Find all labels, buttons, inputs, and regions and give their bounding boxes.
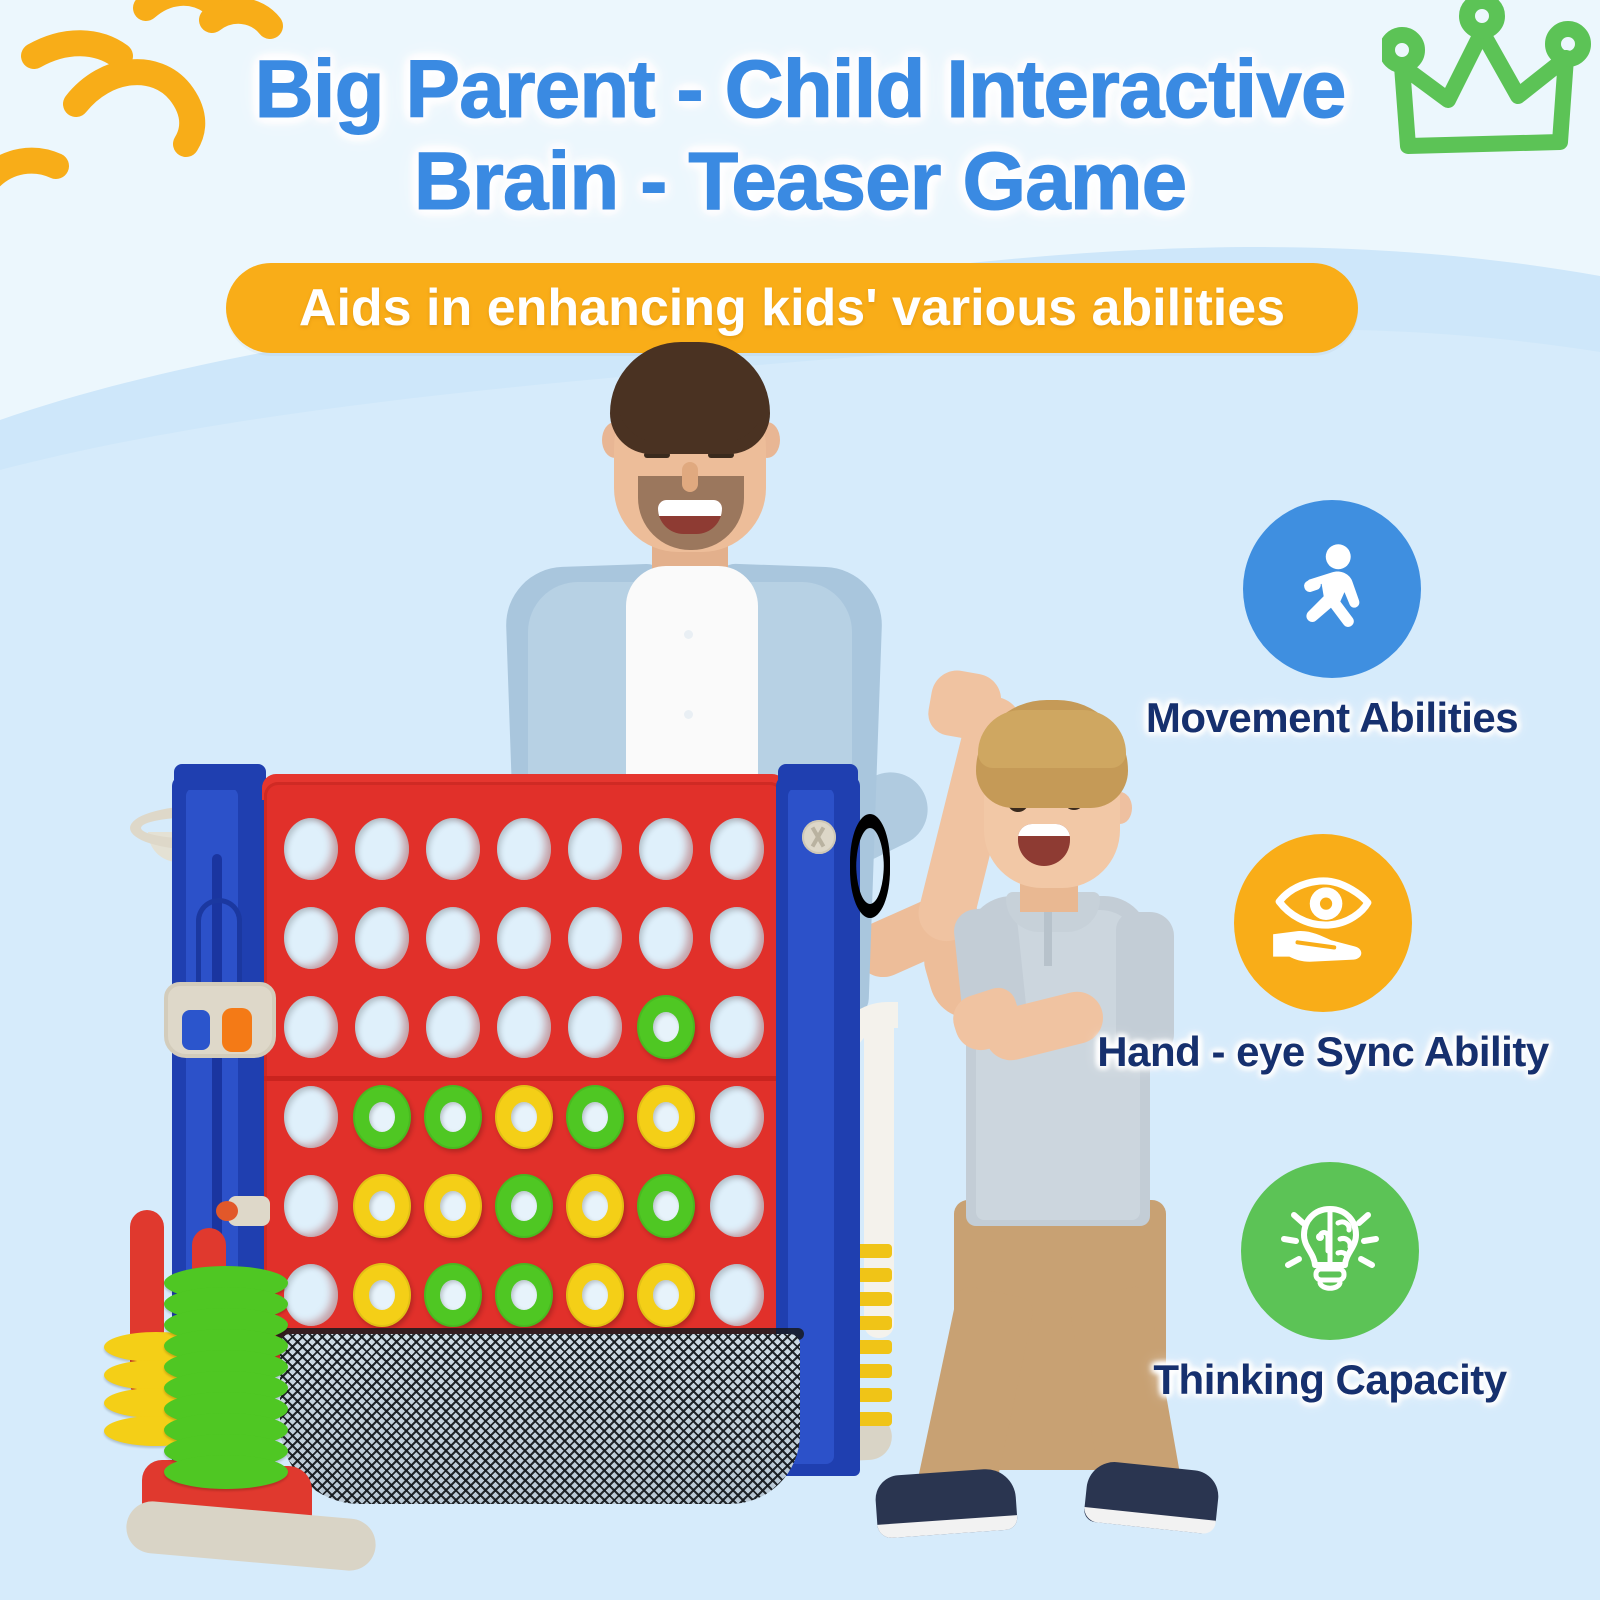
benefits-list: Movement Abilities Hand - eye Sync Abili… bbox=[1092, 500, 1562, 1496]
empty-hole bbox=[710, 996, 764, 1058]
man-nose bbox=[682, 462, 698, 492]
grid-cell bbox=[278, 1074, 345, 1159]
grid-cell bbox=[278, 895, 345, 980]
screw-cap-icon bbox=[802, 820, 836, 854]
empty-hole bbox=[568, 907, 622, 969]
man-shirt-button bbox=[684, 710, 693, 719]
ring-toss-station bbox=[120, 1210, 350, 1510]
empty-hole bbox=[355, 907, 409, 969]
lightbulb-brain-icon bbox=[1241, 1162, 1419, 1340]
hanging-toss-rings bbox=[850, 814, 896, 924]
empty-hole bbox=[426, 907, 480, 969]
yellow-ring-token bbox=[495, 1085, 553, 1149]
empty-hole bbox=[568, 818, 622, 880]
grid-cell bbox=[349, 1074, 416, 1159]
grid-cell bbox=[420, 985, 487, 1070]
grid-cell bbox=[561, 985, 628, 1070]
grid-cell bbox=[703, 1253, 770, 1338]
grid-cell bbox=[632, 895, 699, 980]
green-ring-token bbox=[566, 1085, 624, 1149]
yellow-ring-token bbox=[353, 1174, 411, 1238]
grid-cell bbox=[491, 1253, 558, 1338]
running-person-icon bbox=[1243, 500, 1421, 678]
empty-hole bbox=[710, 907, 764, 969]
mesh-storage-net bbox=[280, 1334, 800, 1504]
empty-hole bbox=[497, 818, 551, 880]
green-ring-stack bbox=[164, 1266, 288, 1496]
empty-hole bbox=[284, 996, 338, 1058]
grid-cell bbox=[491, 1074, 558, 1159]
grid-cell bbox=[561, 1163, 628, 1248]
right-post-cap bbox=[778, 764, 858, 790]
cup-holder bbox=[164, 982, 276, 1058]
empty-hole bbox=[284, 818, 338, 880]
empty-hole bbox=[710, 1264, 764, 1326]
yellow-ring-token bbox=[637, 1085, 695, 1149]
grid-cell bbox=[491, 895, 558, 980]
toy-left-base-foot bbox=[124, 1499, 378, 1573]
feature-label: Thinking Capacity bbox=[1098, 1356, 1562, 1404]
empty-hole bbox=[497, 996, 551, 1058]
eye-over-hand-icon bbox=[1234, 834, 1412, 1012]
cup-holder-slot-left bbox=[182, 1010, 210, 1050]
green-ring-token bbox=[495, 1174, 553, 1238]
grid-cell bbox=[349, 895, 416, 980]
empty-hole bbox=[355, 818, 409, 880]
boy-polo-placket bbox=[1044, 906, 1052, 966]
feature-label: Hand - eye Sync Ability bbox=[1084, 1028, 1562, 1076]
grid-cell bbox=[703, 806, 770, 891]
empty-hole bbox=[426, 818, 480, 880]
grid-cell bbox=[420, 895, 487, 980]
green-ring-token bbox=[637, 995, 695, 1059]
green-ring-token bbox=[424, 1263, 482, 1327]
empty-hole bbox=[284, 1086, 338, 1148]
empty-hole bbox=[710, 818, 764, 880]
feature-thinking-capacity: Thinking Capacity bbox=[1098, 1162, 1562, 1404]
grid-cell bbox=[420, 806, 487, 891]
grid-cell bbox=[632, 1253, 699, 1338]
man-hair bbox=[610, 342, 770, 454]
grid-cell bbox=[703, 895, 770, 980]
grid-cell bbox=[420, 1074, 487, 1159]
grid-cell bbox=[632, 1074, 699, 1159]
grid-cell bbox=[349, 985, 416, 1070]
hanging-ring-blue bbox=[850, 822, 890, 918]
grid-cell bbox=[632, 985, 699, 1070]
cup-holder-slot-right bbox=[222, 1008, 252, 1052]
empty-hole bbox=[355, 996, 409, 1058]
empty-hole bbox=[284, 907, 338, 969]
empty-hole bbox=[639, 907, 693, 969]
product-marketing-poster: Big Parent - Child Interactive Brain - T… bbox=[0, 0, 1600, 1600]
man-shirt-button bbox=[684, 630, 693, 639]
empty-hole bbox=[710, 1175, 764, 1237]
grid-cell bbox=[420, 1253, 487, 1338]
feature-movement-abilities: Movement Abilities bbox=[1102, 500, 1562, 742]
giant-connect-four-game bbox=[112, 758, 932, 1578]
grid-cell bbox=[278, 985, 345, 1070]
green-ring-token bbox=[495, 1263, 553, 1327]
grid-cell bbox=[561, 1074, 628, 1159]
yellow-ring-token bbox=[353, 1263, 411, 1327]
grid-cell bbox=[491, 985, 558, 1070]
empty-hole bbox=[639, 818, 693, 880]
feature-label: Movement Abilities bbox=[1102, 694, 1562, 742]
yellow-ring-token bbox=[637, 1263, 695, 1327]
grid-cell bbox=[278, 806, 345, 891]
grid-cell bbox=[703, 985, 770, 1070]
grid-cell bbox=[632, 806, 699, 891]
grid-cell bbox=[561, 1253, 628, 1338]
grid-cell bbox=[703, 1074, 770, 1159]
grid-cell bbox=[349, 1253, 416, 1338]
empty-hole bbox=[710, 1086, 764, 1148]
empty-hole bbox=[568, 996, 622, 1058]
yellow-ring-token bbox=[424, 1174, 482, 1238]
green-ring-token bbox=[637, 1174, 695, 1238]
grid-cell bbox=[491, 806, 558, 891]
feature-hand-eye-sync: Hand - eye Sync Ability bbox=[1084, 834, 1562, 1076]
grid-cell bbox=[703, 1163, 770, 1248]
yellow-ring-token bbox=[566, 1263, 624, 1327]
green-ring-token bbox=[424, 1085, 482, 1149]
grid-cell bbox=[561, 806, 628, 891]
green-ring-token bbox=[353, 1085, 411, 1149]
grid-cell bbox=[349, 806, 416, 891]
grid-cell bbox=[632, 1163, 699, 1248]
yellow-ring-token bbox=[566, 1174, 624, 1238]
grid-cell bbox=[420, 1163, 487, 1248]
left-post-cap bbox=[174, 764, 266, 790]
empty-hole bbox=[497, 907, 551, 969]
grid-cell bbox=[491, 1163, 558, 1248]
grid-cell bbox=[561, 895, 628, 980]
grid-cell bbox=[349, 1163, 416, 1248]
empty-hole bbox=[426, 996, 480, 1058]
